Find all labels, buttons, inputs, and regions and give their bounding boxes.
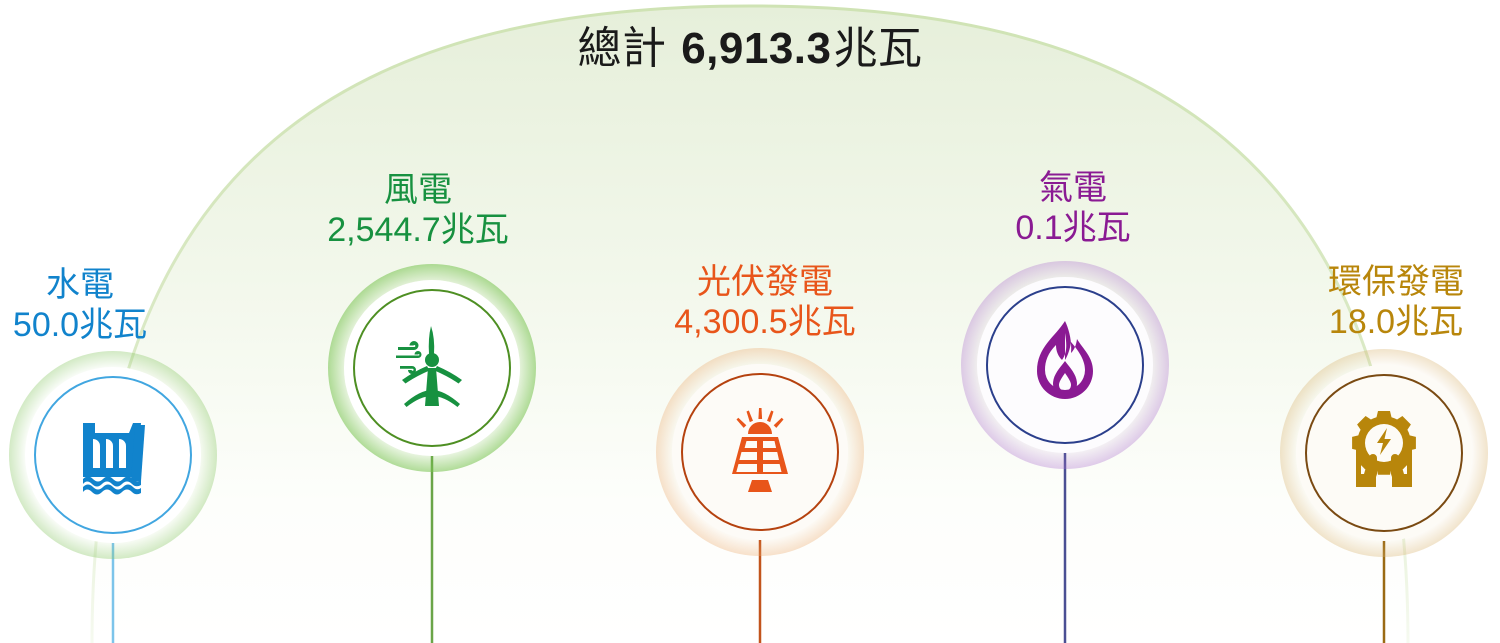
gas-flame-icon: [1013, 313, 1117, 417]
caption-gas: 氣電 0.1兆瓦: [1015, 168, 1130, 248]
caption-hydro: 水電 50.0兆瓦: [13, 265, 147, 345]
total-title: 總計 6,913.3兆瓦: [0, 24, 1500, 75]
solar-panel-icon: [708, 400, 812, 504]
caption-wind-value: 2,544.7兆瓦: [327, 210, 508, 250]
caption-solar: 光伏發電 4,300.5兆瓦: [674, 262, 855, 342]
caption-hydro-value: 50.0兆瓦: [13, 305, 147, 345]
badge-solar[interactable]: [672, 364, 848, 540]
caption-gas-value: 0.1兆瓦: [1015, 208, 1130, 248]
total-title-label: 總計: [577, 24, 666, 73]
caption-eco-name: 環保發電: [1328, 262, 1464, 302]
caption-gas-name: 氣電: [1015, 168, 1130, 208]
total-title-value: 6,913.3: [679, 24, 833, 73]
badge-hydro[interactable]: [25, 367, 201, 543]
caption-wind-name: 風電: [327, 170, 508, 210]
caption-solar-name: 光伏發電: [674, 262, 855, 302]
badge-wind[interactable]: [344, 280, 520, 456]
badge-eco[interactable]: [1296, 365, 1472, 541]
wind-turbine-icon: [380, 316, 484, 420]
hands-gear-power-icon: [1332, 401, 1436, 505]
infographic-canvas: 總計 6,913.3兆瓦 水電 50.0兆瓦: [0, 0, 1500, 643]
caption-wind: 風電 2,544.7兆瓦: [327, 170, 508, 250]
caption-eco: 環保發電 18.0兆瓦: [1328, 262, 1464, 342]
caption-eco-value: 18.0兆瓦: [1328, 302, 1464, 342]
caption-solar-value: 4,300.5兆瓦: [674, 302, 855, 342]
hydro-dam-icon: [61, 403, 165, 507]
badge-gas[interactable]: [977, 277, 1153, 453]
caption-hydro-name: 水電: [13, 265, 147, 305]
total-title-unit: 兆瓦: [834, 24, 923, 73]
